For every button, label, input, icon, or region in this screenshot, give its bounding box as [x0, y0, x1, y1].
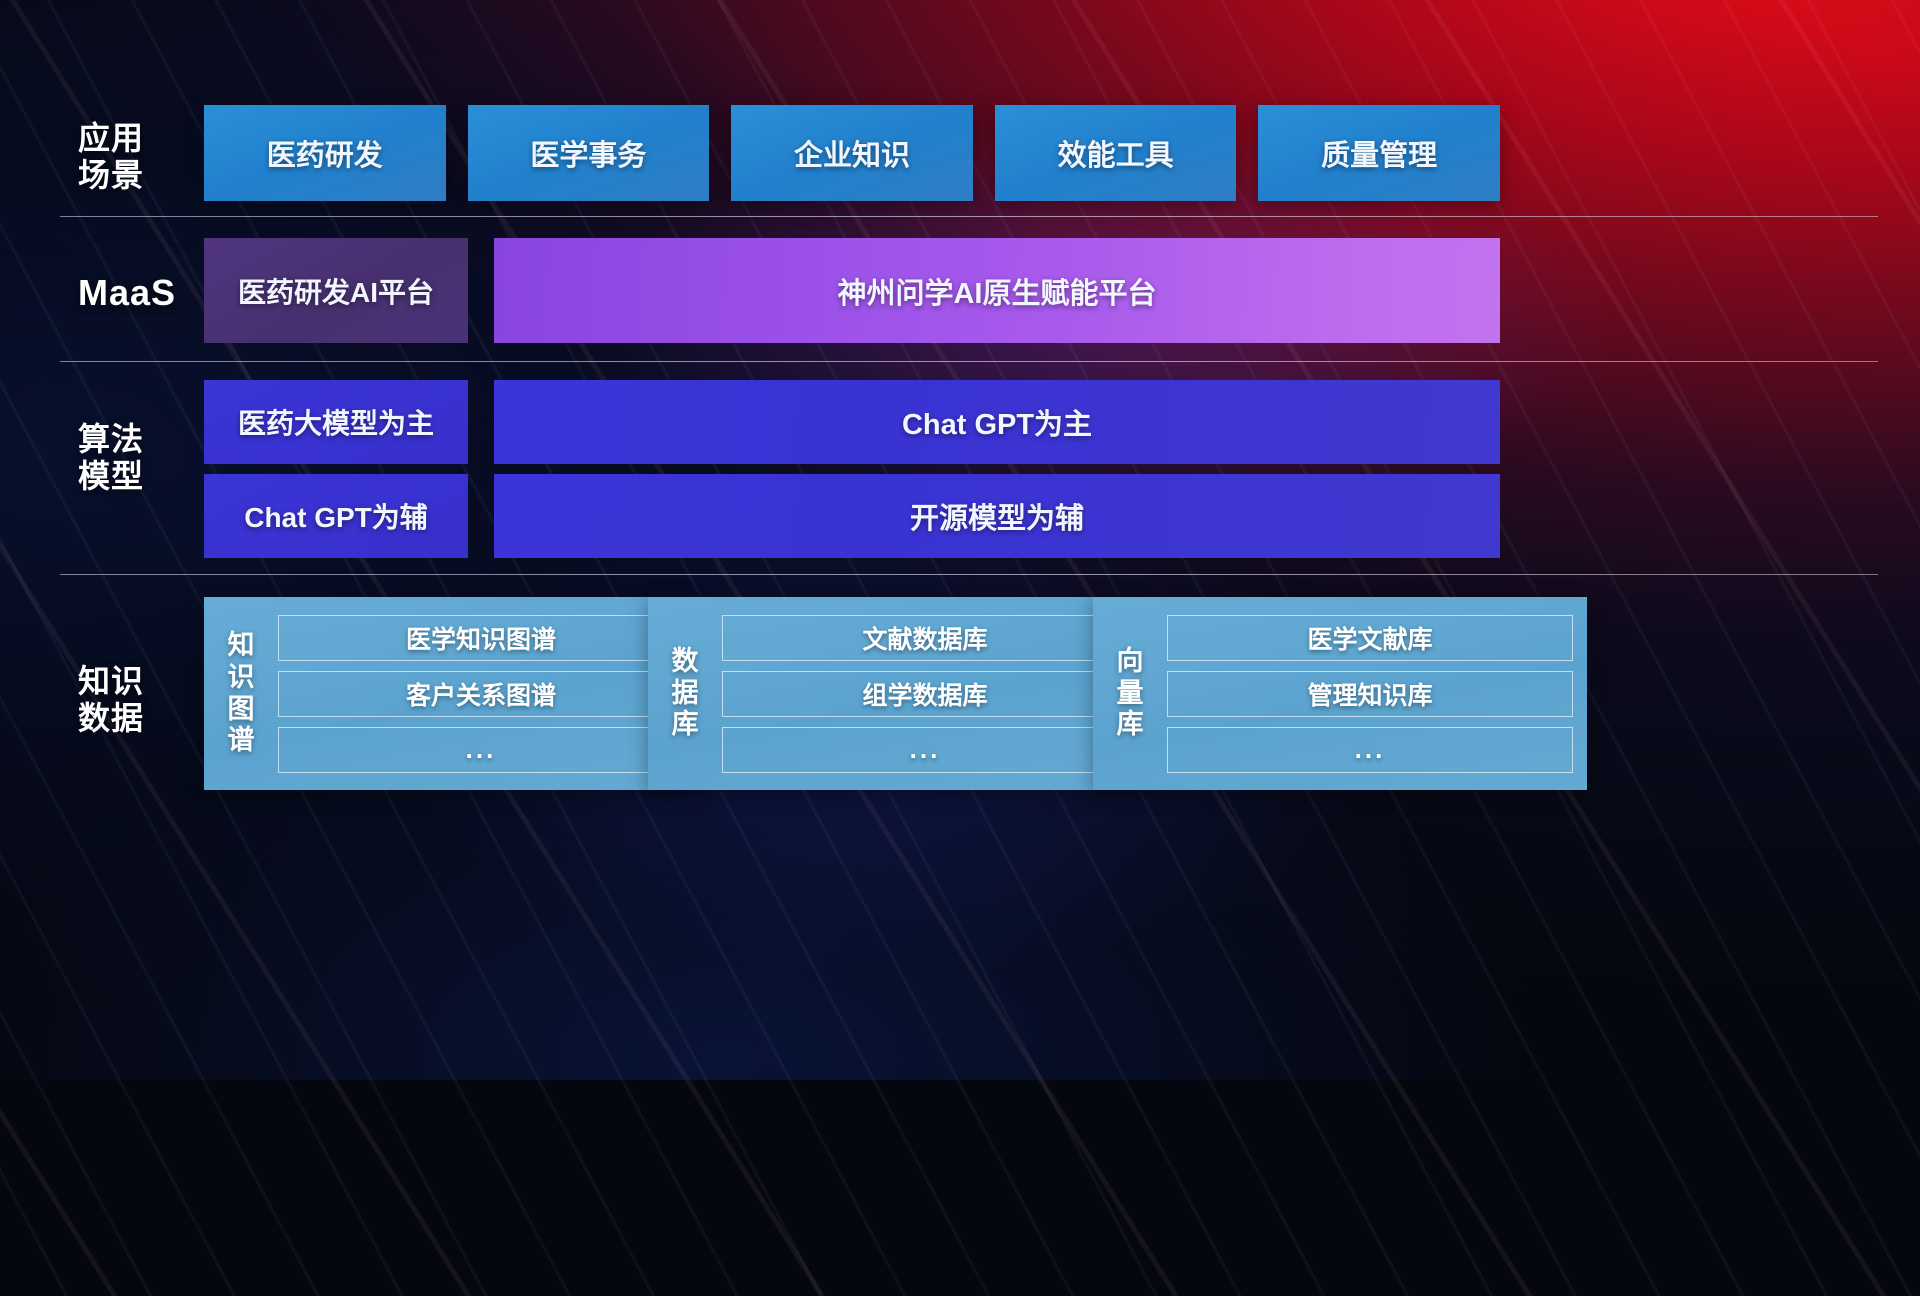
divider-3: [60, 574, 1878, 575]
app-card-enterprise-knowledge[interactable]: 企业知识: [731, 105, 973, 201]
knowledge-item-list: 文献数据库 组学数据库 ...: [722, 609, 1128, 778]
vertical-label-char: 谱: [228, 725, 255, 757]
tier-label-maas: MaaS: [78, 272, 204, 313]
tier2-card-group: 医药研发AI平台 神州问学AI原生赋能平台: [204, 238, 1500, 343]
knowledge-item-list: 医学知识图谱 客户关系图谱 ...: [278, 609, 684, 778]
vertical-label-char: 向: [1117, 646, 1144, 678]
knowledge-item-more[interactable]: ...: [1167, 727, 1573, 773]
app-card-medical-affairs[interactable]: 医学事务: [468, 105, 710, 201]
tier-label-line: 模型: [78, 458, 204, 495]
tier-label-line: MaaS: [78, 272, 204, 313]
app-card-quality-management[interactable]: 质量管理: [1258, 105, 1500, 201]
spacer: [468, 474, 494, 558]
architecture-diagram: 应用 场景 医药研发 医学事务 企业知识 效能工具 质量管理 MaaS 医药研发…: [0, 0, 1920, 1080]
divider-1: [60, 216, 1878, 217]
knowledge-item-omics-database[interactable]: 组学数据库: [722, 671, 1128, 717]
tier-label-line: 应用: [78, 120, 204, 157]
tier-label-application-scenarios: 应用 场景: [78, 120, 204, 194]
knowledge-group-vertical-label: 向 量 库: [1093, 609, 1167, 778]
knowledge-item-more[interactable]: ...: [722, 727, 1128, 773]
knowledge-item-list: 医学文献库 管理知识库 ...: [1167, 609, 1573, 778]
knowledge-group-vector-store: 向 量 库 医学文献库 管理知识库 ...: [1093, 597, 1587, 790]
knowledge-group-vertical-label: 数 据 库: [648, 609, 722, 778]
tier-label-line: 数据: [78, 700, 204, 737]
app-card-pharma-rnd[interactable]: 医药研发: [204, 105, 446, 201]
vertical-label-char: 库: [672, 709, 699, 741]
divider-2: [60, 361, 1878, 362]
knowledge-item-more[interactable]: ...: [278, 727, 684, 773]
algo-card-pharma-large-model-primary[interactable]: 医药大模型为主: [204, 380, 468, 464]
vertical-label-char: 数: [672, 646, 699, 678]
tier-label-line: 知识: [78, 663, 204, 700]
tier-label-algorithm-models: 算法 模型: [78, 421, 204, 495]
vertical-label-char: 库: [1117, 709, 1144, 741]
knowledge-item-medical-literature-store[interactable]: 医学文献库: [1167, 615, 1573, 661]
algo-card-opensource-secondary[interactable]: 开源模型为辅: [494, 474, 1500, 558]
vertical-label-char: 知: [228, 630, 255, 662]
tier-label-line: 场景: [78, 157, 204, 194]
algo-card-chatgpt-primary[interactable]: Chat GPT为主: [494, 380, 1500, 464]
knowledge-item-literature-database[interactable]: 文献数据库: [722, 615, 1128, 661]
vertical-label-char: 量: [1117, 678, 1144, 710]
maas-card-shenzhou-wenxue-platform[interactable]: 神州问学AI原生赋能平台: [494, 238, 1500, 343]
algo-card-chatgpt-secondary[interactable]: Chat GPT为辅: [204, 474, 468, 558]
knowledge-item-medical-knowledge-graph[interactable]: 医学知识图谱: [278, 615, 684, 661]
vertical-label-char: 图: [228, 694, 255, 726]
maas-card-pharma-ai-platform[interactable]: 医药研发AI平台: [204, 238, 468, 343]
spacer: [468, 238, 494, 343]
knowledge-group-vertical-label: 知 识 图 谱: [204, 609, 278, 778]
tier-label-line: 算法: [78, 421, 204, 458]
knowledge-item-management-knowledge-store[interactable]: 管理知识库: [1167, 671, 1573, 717]
knowledge-item-customer-relation-graph[interactable]: 客户关系图谱: [278, 671, 684, 717]
knowledge-group-database: 数 据 库 文献数据库 组学数据库 ...: [648, 597, 1142, 790]
spacer: [468, 380, 494, 464]
tier3-row1-card-group: 医药大模型为主 Chat GPT为主: [204, 380, 1500, 464]
knowledge-group-knowledge-graph: 知 识 图 谱 医学知识图谱 客户关系图谱 ...: [204, 597, 698, 790]
vertical-label-char: 据: [672, 678, 699, 710]
tier-label-knowledge-data: 知识 数据: [78, 663, 204, 737]
tier1-card-group: 医药研发 医学事务 企业知识 效能工具 质量管理: [204, 105, 1500, 201]
app-card-efficiency-tools[interactable]: 效能工具: [995, 105, 1237, 201]
tier3-row2-card-group: Chat GPT为辅 开源模型为辅: [204, 474, 1500, 558]
vertical-label-char: 识: [228, 662, 255, 694]
